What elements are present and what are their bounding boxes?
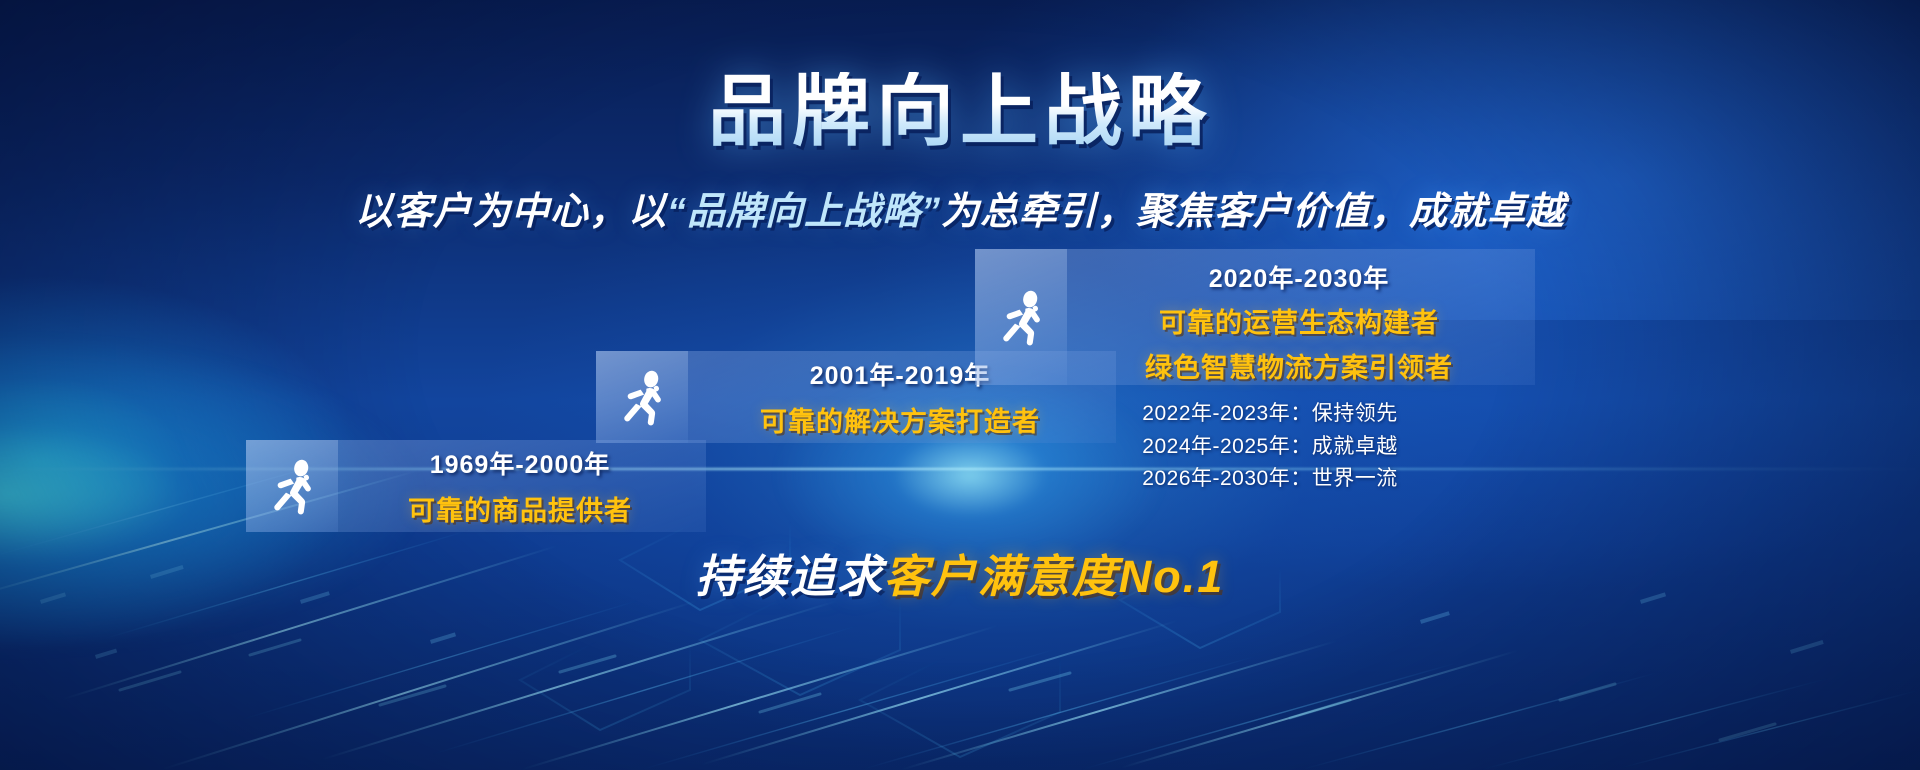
milestone-item: 2024年-2025年：成就卓越 [1105, 431, 1435, 464]
subtitle-part-2-accent: “品牌向上战略” [667, 191, 941, 233]
subtitle-part-3: 为总牵引，聚焦客户价值，成就卓越 [941, 191, 1565, 233]
stage-2-slogan: 可靠的解决方案打造者 [760, 400, 1040, 439]
tagline-highlight: 客户满意度No.1 [884, 551, 1225, 602]
stage-card-1969-2000[interactable]: 1969年-2000年 可靠的商品提供者 [246, 440, 706, 532]
running-person-icon [975, 249, 1067, 385]
running-person-icon [246, 440, 338, 532]
page-title: 品牌向上战略 [708, 72, 1212, 150]
stage-1-year: 1969年-2000年 [430, 445, 611, 481]
stage-3-slogan-1: 可靠的运营生态构建者 [1159, 301, 1439, 340]
stage-3-slogan-2: 绿色智慧物流方案引领者 [1145, 346, 1453, 385]
page-subtitle: 以客户为中心，以“品牌向上战略”为总牵引，聚焦客户价值，成就卓越 [355, 180, 1565, 235]
brand-strategy-banner: 品牌向上战略 以客户为中心，以“品牌向上战略”为总牵引，聚焦客户价值，成就卓越 … [0, 0, 1920, 770]
stage-2-year: 2001年-2019年 [810, 356, 991, 392]
stage-3-year: 2020年-2030年 [1209, 259, 1390, 295]
milestone-item: 2026年-2030年：世界一流 [1105, 463, 1435, 496]
bottom-tagline: 持续追求客户满意度No.1 [696, 540, 1225, 605]
stage-card-1-panel: 1969年-2000年 可靠的商品提供者 [338, 440, 706, 532]
milestone-item: 2022年-2023年：保持领先 [1105, 398, 1435, 431]
tagline-container: 持续追求客户满意度No.1 [0, 540, 1920, 605]
stage-1-slogan: 可靠的商品提供者 [408, 489, 632, 528]
headline-container: 品牌向上战略 [0, 72, 1920, 150]
running-person-icon [596, 351, 688, 443]
tagline-lead: 持续追求 [696, 551, 884, 602]
stage-card-2020-2030[interactable]: 2020年-2030年 可靠的运营生态构建者 绿色智慧物流方案引领者 [975, 249, 1535, 385]
stage-card-3-panel: 2020年-2030年 可靠的运营生态构建者 绿色智慧物流方案引领者 [1067, 249, 1535, 385]
subtitle-container: 以客户为中心，以“品牌向上战略”为总牵引，聚焦客户价值，成就卓越 [0, 180, 1920, 235]
subtitle-part-1: 以客户为中心，以 [355, 191, 667, 233]
milestone-list: 2022年-2023年：保持领先 2024年-2025年：成就卓越 2026年-… [1105, 398, 1435, 496]
